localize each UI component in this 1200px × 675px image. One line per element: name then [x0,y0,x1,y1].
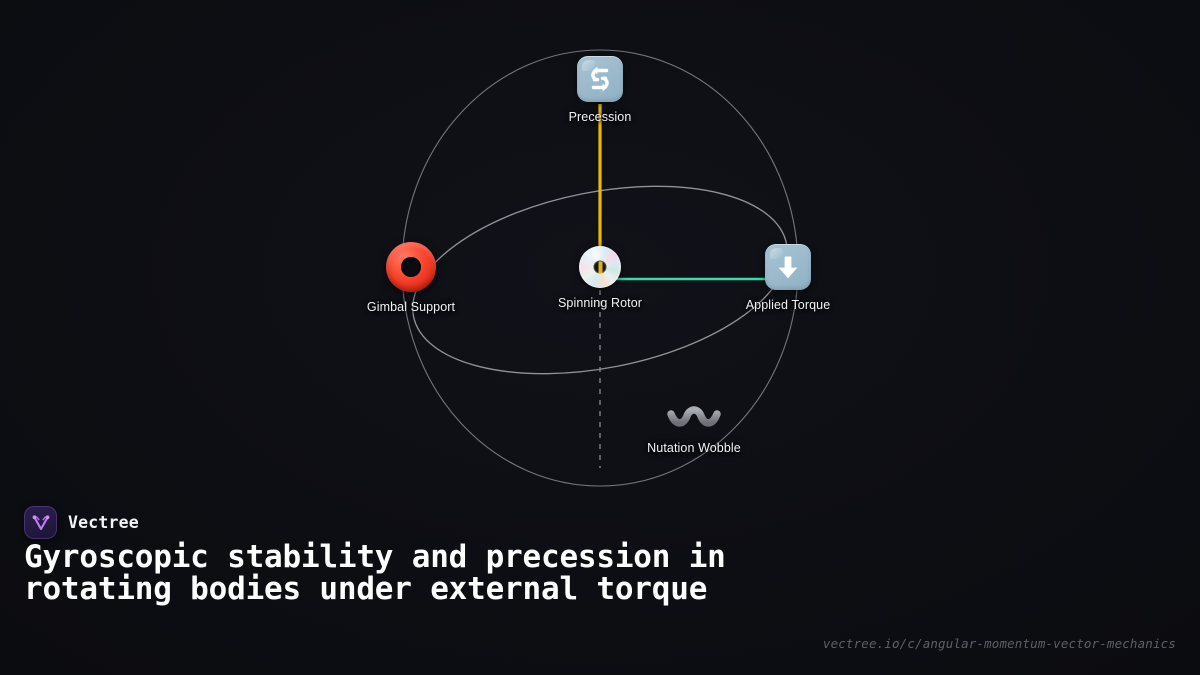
node-nutation-wobble[interactable]: Nutation Wobble [666,403,722,433]
node-label-nutation-wobble: Nutation Wobble [647,441,741,455]
diagram-canvas: Precession Gimbal Support Spinning Rotor [0,0,1200,500]
vectree-v-logo [24,506,57,539]
brand-name: Vectree [68,513,139,532]
page-title: Gyroscopic stability and precession in r… [24,541,824,605]
arrow-down-icon [765,244,811,290]
node-label-gimbal-support: Gimbal Support [367,300,455,314]
nutation-wobble-glyph: Nutation Wobble [666,403,722,433]
node-precession[interactable]: Precession [577,56,623,102]
node-spinning-rotor[interactable]: Spinning Rotor [579,246,621,288]
applied-torque-glyph: Applied Torque [765,244,811,290]
disc-spindle [594,261,607,274]
node-label-applied-torque: Applied Torque [746,298,831,312]
wave-squiggle-icon [666,403,722,433]
page-root: Precession Gimbal Support Spinning Rotor [0,0,1200,675]
red-torus-icon [386,242,436,292]
source-url: vectree.io/c/angular-momentum-vector-mec… [823,636,1176,651]
optical-disc-icon [579,246,621,288]
torus-hole [401,257,421,277]
node-applied-torque[interactable]: Applied Torque [765,244,811,290]
node-label-precession: Precession [569,110,632,124]
swap-arrows-icon [577,56,623,102]
footer: Vectree Gyroscopic stability and precess… [0,495,1200,675]
precession-glyph: Precession [577,56,623,102]
node-label-spinning-rotor: Spinning Rotor [558,296,642,310]
node-gimbal-support[interactable]: Gimbal Support [386,242,436,292]
spinning-rotor-glyph: Spinning Rotor [579,246,621,288]
gimbal-support-glyph: Gimbal Support [386,242,436,292]
brand-block: Vectree [24,506,139,539]
